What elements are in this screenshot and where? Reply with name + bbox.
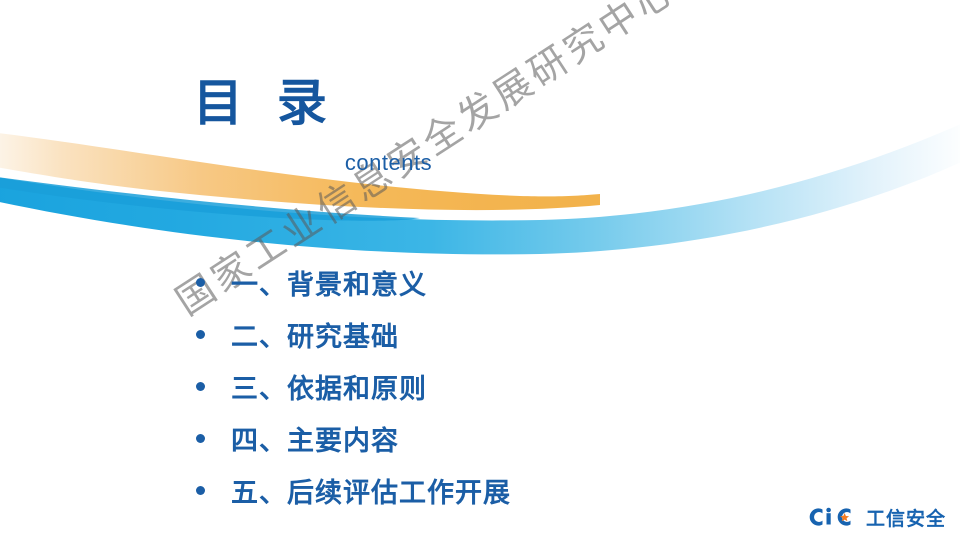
toc-item-label: 四、主要内容: [231, 419, 399, 458]
table-of-contents: 一、背景和意义 二、研究基础 三、依据和原则 四、主要内容 五、后续评估工作开展: [196, 256, 511, 516]
brand-logo: 工信安全: [806, 502, 946, 532]
blue-swoosh-edge: [0, 176, 420, 221]
title-sub-text: contents: [345, 152, 432, 174]
slide-canvas: 国家工业信息安全发展研究中心 目 录 contents 一、背景和意义 二、研究…: [0, 0, 960, 540]
bullet-dot-icon: [196, 278, 205, 287]
bullet-dot-icon: [196, 330, 205, 339]
toc-item-5[interactable]: 五、后续评估工作开展: [196, 464, 511, 516]
page-title: 目 录 contents: [193, 78, 432, 128]
title-main-text: 目 录: [193, 78, 337, 128]
bullet-dot-icon: [196, 382, 205, 391]
toc-item-label: 一、背景和意义: [231, 263, 427, 302]
bullet-dot-icon: [196, 486, 205, 495]
toc-item-2[interactable]: 二、研究基础: [196, 308, 511, 360]
blue-swoosh: [0, 120, 960, 254]
cic-logo-icon: [806, 505, 862, 529]
bullet-dot-icon: [196, 434, 205, 443]
toc-item-label: 二、研究基础: [231, 315, 399, 354]
toc-item-label: 五、后续评估工作开展: [231, 471, 511, 510]
brand-logo-name: 工信安全: [866, 504, 946, 531]
toc-item-4[interactable]: 四、主要内容: [196, 412, 511, 464]
toc-item-1[interactable]: 一、背景和意义: [196, 256, 511, 308]
toc-item-label: 三、依据和原则: [231, 367, 427, 406]
orange-swoosh: [0, 132, 600, 210]
toc-item-3[interactable]: 三、依据和原则: [196, 360, 511, 412]
